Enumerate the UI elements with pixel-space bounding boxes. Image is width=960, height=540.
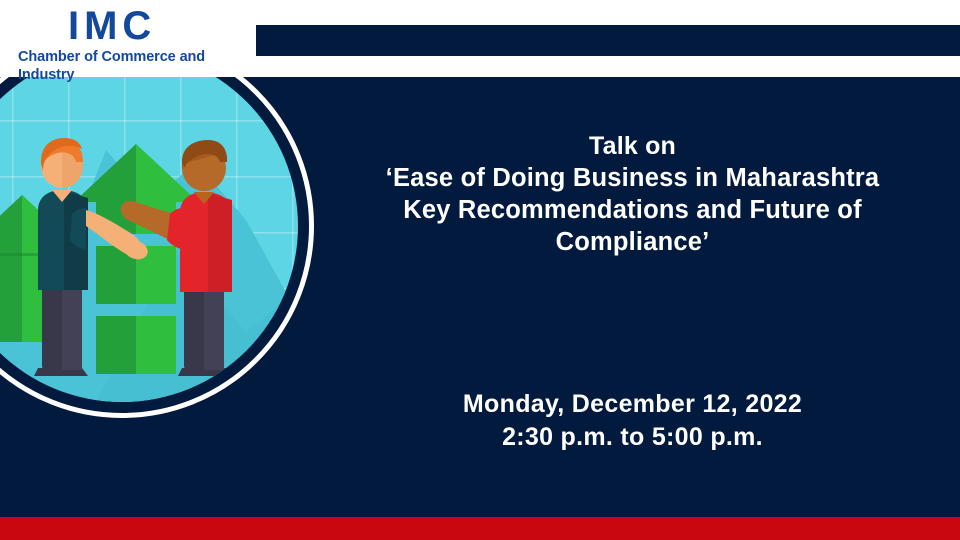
badge-disc	[0, 50, 298, 402]
title-line-1: ‘Ease of Doing Business in Maharashtra	[310, 162, 955, 194]
logo-tagline: Chamber of Commerce and Industry	[10, 48, 260, 84]
event-title-block: Talk on ‘Ease of Doing Business in Mahar…	[310, 130, 955, 258]
title-line-2: Key Recommendations and Future of	[310, 194, 955, 226]
event-time: 2:30 p.m. to 5:00 p.m.	[310, 421, 955, 454]
footer-accent-bar	[0, 517, 960, 540]
event-banner: IMC Chamber of Commerce and Industry	[0, 0, 960, 540]
handshake-growth-illustration	[0, 50, 298, 402]
logo-wordmark: IMC	[10, 4, 260, 48]
title-line-3: Compliance’	[310, 226, 955, 258]
event-datetime-block: Monday, December 12, 2022 2:30 p.m. to 5…	[310, 388, 955, 454]
imc-logo: IMC Chamber of Commerce and Industry	[10, 4, 260, 72]
header-navy-accent-bar	[256, 25, 960, 56]
event-date: Monday, December 12, 2022	[310, 388, 955, 421]
title-prefix: Talk on	[310, 130, 955, 162]
